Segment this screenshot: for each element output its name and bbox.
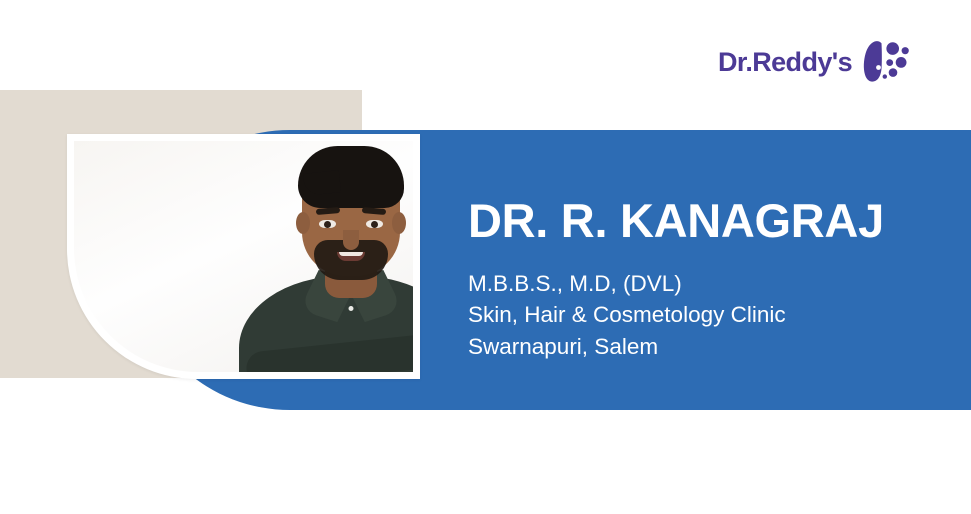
portrait-ear-left <box>296 212 310 234</box>
portrait-nose <box>343 230 359 250</box>
dr-reddys-heart-bubbles-icon <box>861 40 913 84</box>
credential-clinic: Skin, Hair & Cosmetology Clinic <box>468 299 938 330</box>
portrait-eye-right <box>366 220 383 228</box>
portrait-illustration <box>236 141 414 372</box>
brand-logo: Dr.Reddy's <box>718 38 913 86</box>
portrait-eye-left <box>319 220 336 228</box>
doctor-name: DR. R. KANAGRAJ <box>468 197 938 244</box>
doctor-credentials-list: M.B.B.S., M.D, (DVL) Skin, Hair & Cosmet… <box>468 268 938 362</box>
credential-location: Swarnapuri, Salem <box>468 331 938 362</box>
portrait-hair <box>298 146 404 208</box>
portrait-head <box>302 152 400 276</box>
doctor-profile-banner: Dr.Reddy's <box>0 0 971 514</box>
brand-wordmark: Dr.Reddy's <box>718 49 852 76</box>
portrait-eyebrow-left <box>315 207 339 215</box>
doctor-photo <box>74 141 413 372</box>
portrait-ear-right <box>392 212 406 234</box>
doctor-photo-card <box>67 134 420 379</box>
credential-degrees: M.B.B.S., M.D, (DVL) <box>468 268 938 299</box>
portrait-eyebrow-right <box>361 207 385 215</box>
doctor-info-block: DR. R. KANAGRAJ M.B.B.S., M.D, (DVL) Ski… <box>468 197 938 362</box>
